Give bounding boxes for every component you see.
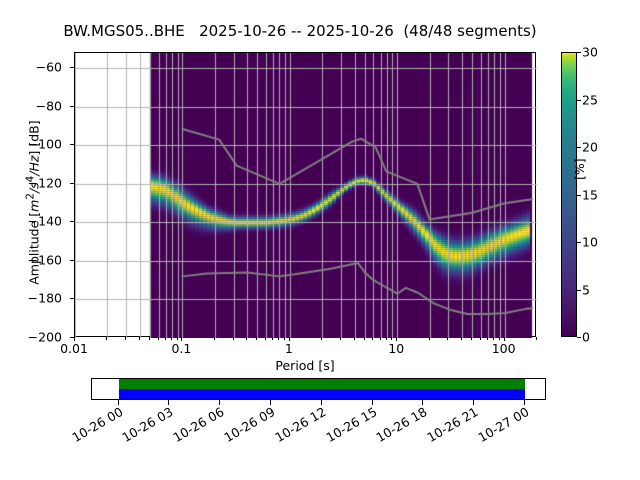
x-tick-label: 0.1 [171,341,191,356]
x-tick-mark [396,337,397,341]
x-minor-tick-mark [106,337,107,340]
x-axis-title: Period [s] [74,358,536,373]
x-minor-tick-mark [149,337,150,340]
x-minor-tick-mark [321,337,322,340]
x-minor-tick-mark [340,337,341,340]
x-minor-tick-mark [461,337,462,340]
x-minor-tick-mark [177,337,178,340]
x-minor-tick-mark [214,337,215,340]
colorbar-tick-mark [577,242,581,243]
x-tick-label: 1 [285,341,293,356]
x-minor-tick-mark [278,337,279,340]
x-minor-tick-mark [372,337,373,340]
x-minor-tick-mark [139,337,140,340]
x-tick-mark [181,337,182,341]
data-coverage-strip [91,378,546,400]
colorbar-tick-mark [577,195,581,196]
x-minor-tick-mark [364,337,365,340]
x-minor-tick-mark [380,337,381,340]
x-minor-tick-mark [480,337,481,340]
x-minor-tick-mark [233,337,234,340]
x-minor-tick-mark [158,337,159,340]
colorbar-tick-mark [577,52,581,53]
colorbar-tick-mark [577,290,581,291]
x-minor-tick-mark [536,337,537,340]
colorbar-tick-label: 25 [582,92,598,107]
x-tick-mark [74,337,75,341]
colorbar-tick-label: 5 [582,282,590,297]
x-tick-mark [289,337,290,341]
x-minor-tick-mark [487,337,488,340]
x-minor-tick-mark [429,337,430,340]
colorbar-tick-mark [577,337,581,338]
x-minor-tick-mark [471,337,472,340]
x-minor-tick-mark [447,337,448,340]
x-minor-tick-mark [284,337,285,340]
colorbar-tick-label: 0 [582,330,590,345]
x-minor-tick-mark [493,337,494,340]
x-tick-label: 10 [388,341,404,356]
x-minor-tick-mark [386,337,387,340]
colorbar-tick-mark [577,100,581,101]
x-minor-tick-mark [272,337,273,340]
coverage-bar-green [119,379,525,389]
x-tick-mark [504,337,505,341]
x-minor-tick-mark [391,337,392,340]
colorbar-tick-label: 15 [582,187,598,202]
x-minor-tick-mark [354,337,355,340]
colorbar-label: [%] [572,120,587,180]
x-minor-tick-mark [265,337,266,340]
colorbar-tick-label: 10 [582,235,598,250]
x-minor-tick-mark [256,337,257,340]
x-minor-tick-mark [125,337,126,340]
x-minor-tick-mark [499,337,500,340]
x-tick-label: 0.01 [60,341,88,356]
colorbar [561,52,577,337]
colorbar-tick-label: 30 [582,45,598,60]
x-minor-tick-mark [171,337,172,340]
x-tick-label: 100 [492,341,516,356]
coverage-bar-blue [119,389,525,399]
x-minor-tick-mark [165,337,166,340]
x-minor-tick-mark [246,337,247,340]
ppsd-figure: BW.MGS05..BHE 2025-10-26 -- 2025-10-26 (… [0,0,640,480]
